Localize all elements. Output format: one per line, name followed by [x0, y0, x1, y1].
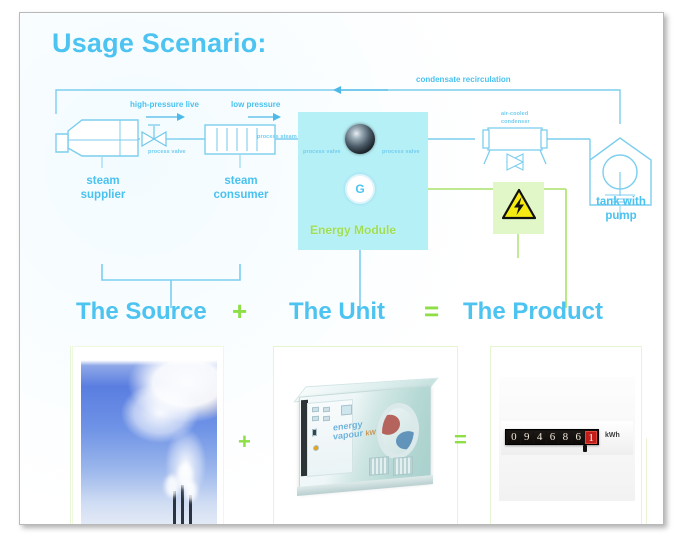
- label-condensate-recirculation: condensate recirculation: [416, 76, 511, 85]
- unit-photo-panel: energy vapour kW: [273, 346, 458, 524]
- meter-digit-decimal: 1: [585, 431, 597, 444]
- slide-frame-inner: Usage Scenario:: [20, 13, 663, 524]
- turbine-sphere-icon: [345, 124, 375, 154]
- tank-with-pump-icon: [590, 138, 651, 205]
- label-tank-with-pump-line2: pump: [576, 210, 663, 223]
- air-cooled-condenser-icon: [483, 128, 547, 170]
- headline-plus-operator: +: [232, 296, 247, 327]
- headline-the-source: The Source: [76, 298, 207, 326]
- plume-wisp: [185, 481, 197, 501]
- electricity-meter-photo: 0 9 4 6 8 6 1 kWh: [499, 377, 635, 501]
- meter-digit: 0: [508, 431, 520, 444]
- label-steam-consumer-line1: steam: [210, 175, 272, 188]
- label-steam-consumer-line2: consumer: [198, 189, 284, 202]
- meter-digit: 9: [521, 431, 533, 444]
- label-steam-supplier-line1: steam: [72, 175, 134, 188]
- label-process-valve-2: process valve: [303, 149, 341, 155]
- steam-plume-photo: [81, 355, 217, 524]
- unit-display: [341, 405, 352, 416]
- headline-equals-operator: =: [424, 296, 439, 327]
- unit-vent-grille: [369, 456, 389, 476]
- unit-switch: [312, 407, 319, 413]
- flow-arrow-condensate: [333, 86, 388, 94]
- headline-row: The Source + The Unit = The Product: [20, 296, 663, 336]
- unit-vent-grille: [393, 456, 413, 476]
- label-process-steam: process steam: [257, 134, 297, 140]
- label-condenser-line1: air-cooled: [501, 111, 528, 117]
- accent-rule-right: [646, 438, 647, 524]
- meter-digit: 8: [559, 431, 571, 444]
- steam-boiler-icon: [56, 120, 138, 156]
- source-photo-panel: [72, 346, 224, 524]
- label-process-valve-1: process valve: [148, 149, 186, 155]
- unit-branding-line3: kW: [366, 430, 377, 438]
- headline-the-product: The Product: [463, 298, 603, 326]
- unit-switch: [312, 416, 319, 422]
- slide-canvas: Usage Scenario:: [0, 0, 683, 550]
- energy-module-unit-photo: energy vapour kW: [281, 369, 451, 519]
- accent-rule-left: [70, 346, 71, 524]
- unit-switch: [323, 407, 330, 413]
- panel-equals-operator: =: [454, 427, 467, 453]
- label-condenser-line2: condenser: [501, 119, 530, 125]
- meter-digit: 6: [572, 431, 584, 444]
- label-steam-supplier-line2: supplier: [64, 189, 142, 202]
- electrical-hazard-icon: [502, 188, 536, 220]
- valve-icon-1: [142, 125, 166, 146]
- label-low-pressure: low pressure: [231, 101, 280, 110]
- generator-circle-icon: G: [345, 174, 375, 204]
- page-title: Usage Scenario:: [52, 28, 267, 59]
- label-energy-module: Energy Module: [310, 224, 396, 237]
- label-process-valve-3: process valve: [382, 149, 420, 155]
- unit-indicator: [312, 429, 317, 436]
- flow-arrow-low-pressure: [248, 113, 281, 121]
- meter-digit: 6: [547, 431, 559, 444]
- meter-digit: 4: [534, 431, 546, 444]
- panel-plus-operator: +: [238, 429, 251, 455]
- flow-arrow-high-pressure: [146, 113, 185, 121]
- meter-unit-label: kWh: [605, 432, 620, 439]
- label-tank-with-pump-line1: tank with: [576, 196, 663, 209]
- label-high-pressure-live: high-pressure live: [130, 101, 199, 110]
- process-diagram: G condensate recirculation high-pressure…: [20, 68, 663, 308]
- smokestack: [181, 485, 184, 524]
- unit-switch: [323, 416, 330, 422]
- meter-pointer: [583, 445, 587, 452]
- product-photo-panel: 0 9 4 6 8 6 1 kWh: [490, 346, 642, 524]
- slide-frame: Usage Scenario:: [19, 12, 664, 525]
- headline-the-unit: The Unit: [289, 298, 385, 326]
- meter-register: 0 9 4 6 8 6 1: [505, 429, 599, 445]
